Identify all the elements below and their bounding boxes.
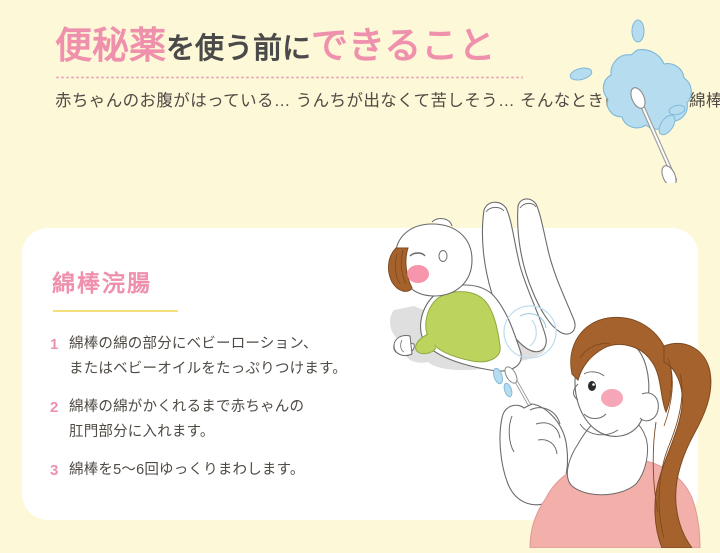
card-title: 綿棒浣腸 [52, 264, 152, 298]
list-item: 1 綿棒の綿の部分にベビーローション、 またはベビーオイルをたっぷりつけます。 [50, 332, 410, 382]
page-title-part2: を使う前に [166, 33, 311, 65]
cotton-swab-splash-icon [565, 18, 720, 183]
step-number: 1 [50, 332, 69, 357]
header-section: 便秘薬を使う前にできること 赤ちゃんのお腹がはっている… うんちが出なくて苦しそ… [0, 0, 720, 215]
step-text: 綿棒の綿がかくれるまで赤ちゃんの 肛門部分に入れます。 [69, 395, 410, 445]
step-number: 2 [50, 395, 69, 420]
step-text: 綿棒の綿の部分にベビーローション、 またはベビーオイルをたっぷりつけます。 [69, 332, 410, 382]
page-title: 便秘薬を使う前にできること [55, 22, 495, 73]
step-text: 綿棒を5〜6回ゆっくりまわします。 [69, 458, 410, 483]
step-number: 3 [50, 458, 69, 483]
page-title-part3: できること [311, 25, 495, 66]
title-dotted-rule [55, 76, 523, 79]
instruction-card: 綿棒浣腸 1 綿棒の綿の部分にベビーローション、 またはベビーオイルをたっぷりつ… [22, 228, 698, 520]
list-item: 3 綿棒を5〜6回ゆっくりまわします。 [50, 458, 410, 483]
card-title-underline [53, 310, 178, 312]
page-title-part1: 便秘薬 [55, 25, 166, 66]
list-item: 2 綿棒の綿がかくれるまで赤ちゃんの 肛門部分に入れます。 [50, 395, 410, 445]
steps-list: 1 綿棒の綿の部分にベビーローション、 またはベビーオイルをたっぷりつけます。 … [50, 332, 410, 496]
